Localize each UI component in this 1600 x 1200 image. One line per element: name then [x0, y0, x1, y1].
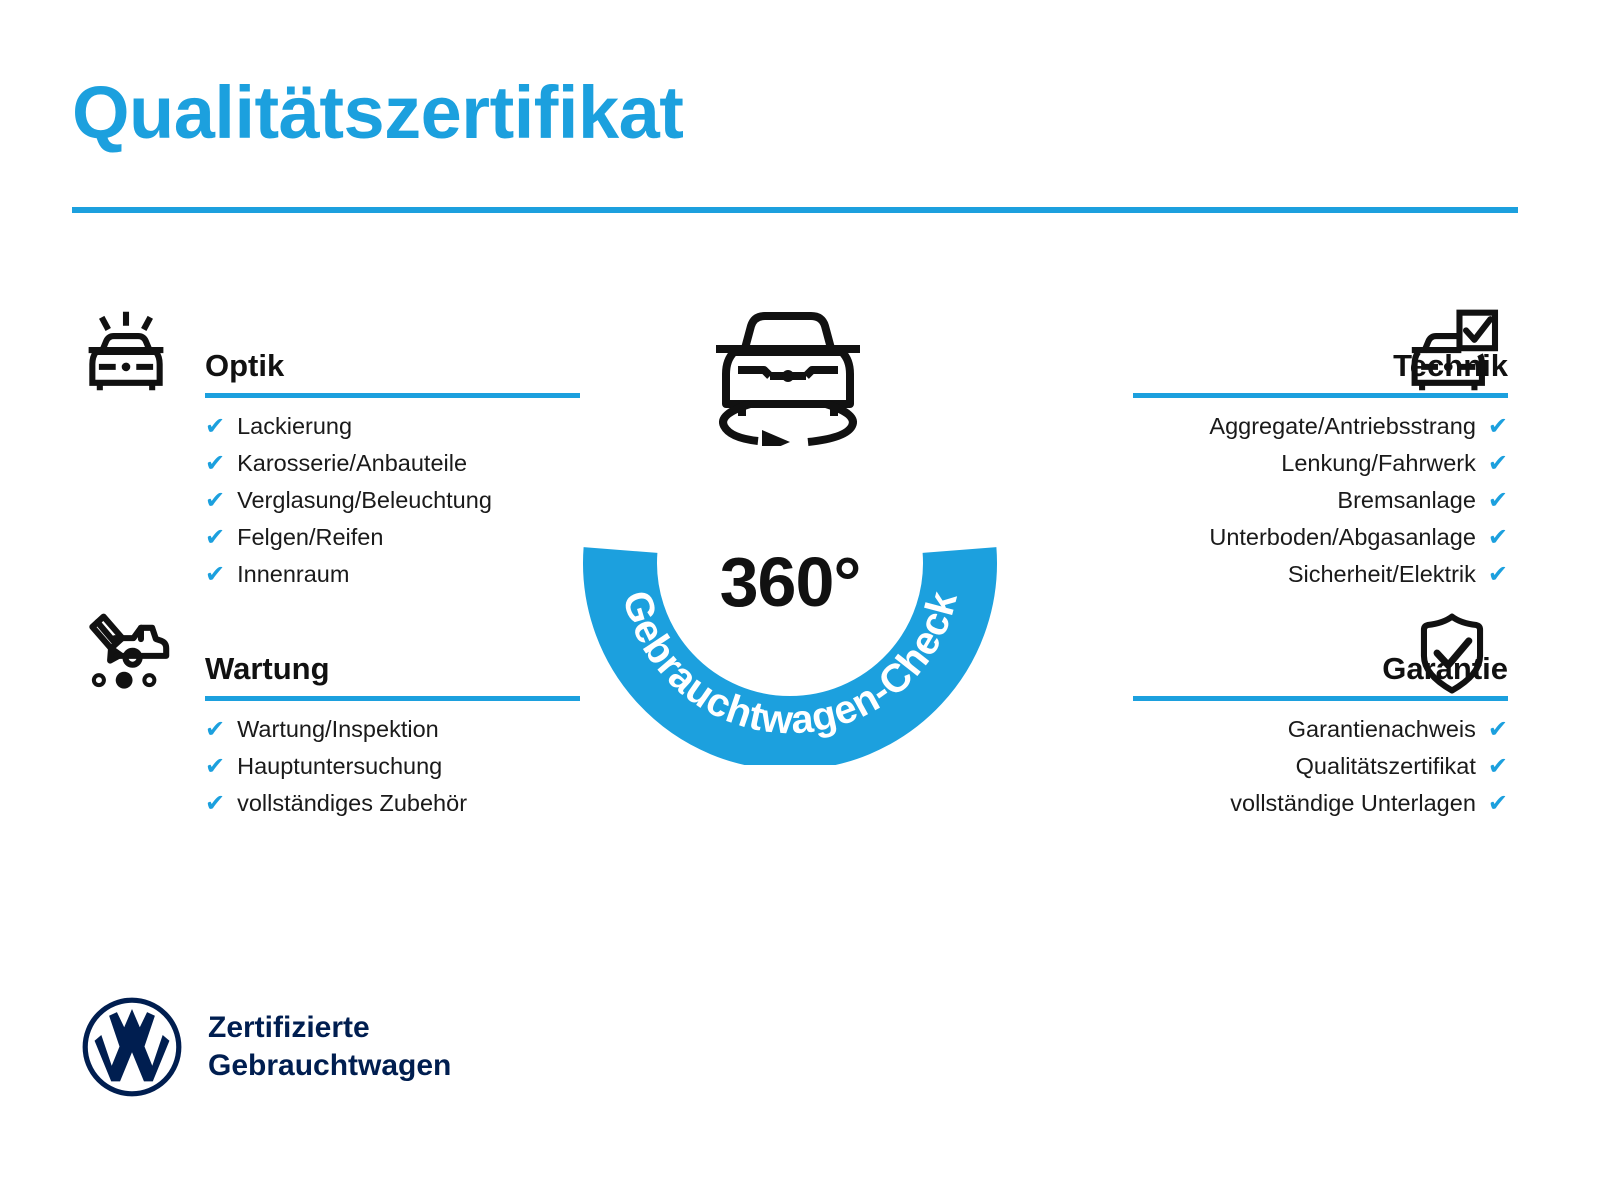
page-title: Qualitätszertifikat: [72, 74, 683, 152]
list-item-label: Hauptuntersuchung: [237, 748, 442, 785]
section-garantie-header: Garantie: [1000, 633, 1508, 691]
check-icon: ✔: [205, 415, 225, 439]
section-wartung-divider: [205, 696, 580, 701]
check-icon: ✔: [1488, 489, 1508, 513]
list-item: Qualitätszertifikat✔: [1000, 748, 1508, 785]
check-icon: ✔: [1488, 755, 1508, 779]
list-item-label: Bremsanlage: [1337, 482, 1475, 519]
section-garantie: Garantie Garantienachweis✔ Qualitätszert…: [1000, 633, 1508, 691]
check-icon: ✔: [1488, 452, 1508, 476]
section-wartung-title: Wartung: [205, 651, 330, 687]
list-item-label: Felgen/Reifen: [237, 519, 383, 556]
check-icon: ✔: [1488, 563, 1508, 587]
check-icon: ✔: [205, 489, 225, 513]
check-icon: ✔: [205, 792, 225, 816]
check-icon: ✔: [205, 526, 225, 550]
section-wartung-header: Wartung: [72, 633, 580, 691]
section-optik-header: Optik: [72, 330, 580, 388]
volkswagen-logo: [80, 995, 184, 1099]
list-item-label: Verglasung/Beleuchtung: [237, 482, 492, 519]
list-item: Lenkung/Fahrwerk✔: [1000, 445, 1508, 482]
section-wartung: Wartung ✔Wartung/Inspektion ✔Hauptunters…: [72, 633, 580, 691]
section-optik-title: Optik: [205, 348, 284, 384]
section-garantie-list: Garantienachweis✔ Qualitätszertifikat✔ v…: [1000, 711, 1508, 822]
check-icon: ✔: [205, 718, 225, 742]
check-icon: ✔: [205, 755, 225, 779]
section-garantie-title: Garantie: [1382, 651, 1508, 687]
list-item-label: Karosserie/Anbauteile: [237, 445, 467, 482]
section-garantie-divider: [1133, 696, 1508, 701]
list-item: vollständige Unterlagen✔: [1000, 785, 1508, 822]
section-technik: Technik Aggregate/Antriebsstrang✔ Lenkun…: [1000, 330, 1508, 388]
section-optik: Optik ✔Lackierung ✔Karosserie/Anbauteile…: [72, 330, 580, 388]
list-item-label: Garantienachweis: [1288, 711, 1476, 748]
certificate-page: Qualitätszertifikat: [0, 0, 1600, 1200]
check-icon: ✔: [205, 563, 225, 587]
footer-text: Zertifizierte Gebrauchtwagen: [208, 1009, 451, 1086]
section-technik-divider: [1133, 393, 1508, 398]
check-icon: ✔: [205, 452, 225, 476]
list-item: Sicherheit/Elektrik✔: [1000, 556, 1508, 593]
list-item-label: Qualitätszertifikat: [1296, 748, 1476, 785]
list-item-label: vollständige Unterlagen: [1230, 785, 1476, 822]
360-check-badge: Gebrauchtwagen-Check: [570, 300, 1010, 770]
check-icon: ✔: [1488, 792, 1508, 816]
list-item-label: Lackierung: [237, 408, 352, 445]
list-item-label: vollständiges Zubehör: [237, 785, 467, 822]
list-item-label: Unterboden/Abgasanlage: [1209, 519, 1476, 556]
list-item: ✔vollständiges Zubehör: [205, 785, 713, 822]
footer-brand: Zertifizierte Gebrauchtwagen: [80, 995, 451, 1099]
list-item: Aggregate/Antriebsstrang✔: [1000, 408, 1508, 445]
list-item: Garantienachweis✔: [1000, 711, 1508, 748]
section-optik-divider: [205, 393, 580, 398]
section-technik-list: Aggregate/Antriebsstrang✔ Lenkung/Fahrwe…: [1000, 408, 1508, 593]
car-front-lights-icon: [78, 308, 174, 394]
list-item-label: Aggregate/Antriebsstrang: [1209, 408, 1476, 445]
list-item-label: Wartung/Inspektion: [237, 711, 439, 748]
list-item-label: Innenraum: [237, 556, 349, 593]
car-front-rotate-icon: [698, 304, 878, 446]
check-icon: ✔: [1488, 415, 1508, 439]
pencil-car-service-icon: [78, 611, 174, 697]
footer-line-2: Gebrauchtwagen: [208, 1047, 451, 1085]
footer-line-1: Zertifizierte: [208, 1009, 451, 1047]
header-divider: [72, 207, 1518, 213]
check-icon: ✔: [1488, 718, 1508, 742]
list-item: Bremsanlage✔: [1000, 482, 1508, 519]
list-item: Unterboden/Abgasanlage✔: [1000, 519, 1508, 556]
check-icon: ✔: [1488, 526, 1508, 550]
list-item-label: Sicherheit/Elektrik: [1288, 556, 1476, 593]
list-item-label: Lenkung/Fahrwerk: [1281, 445, 1476, 482]
badge-center-label: 360°: [570, 542, 1010, 622]
section-technik-title: Technik: [1393, 348, 1508, 384]
section-technik-header: Technik: [1000, 330, 1508, 388]
